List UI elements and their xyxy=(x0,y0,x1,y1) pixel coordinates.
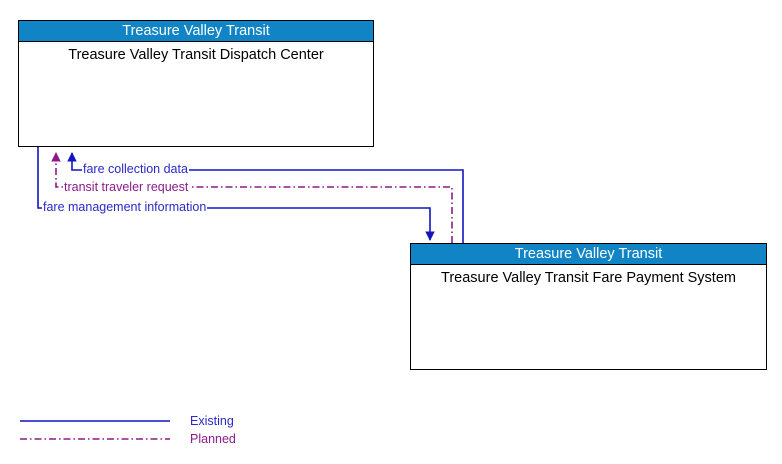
entity-fare-payment-system[interactable]: Treasure Valley Transit Treasure Valley … xyxy=(410,243,767,370)
entity-dispatch-center[interactable]: Treasure Valley Transit Treasure Valley … xyxy=(18,20,374,147)
entity-dispatch-center-name: Treasure Valley Transit Dispatch Center xyxy=(19,42,373,65)
legend-label-planned: Planned xyxy=(190,432,236,447)
legend-swatch-existing xyxy=(20,414,170,428)
entity-fare-payment-system-stakeholder: Treasure Valley Transit xyxy=(411,244,766,265)
legend-label-existing: Existing xyxy=(190,414,234,429)
flow-label-fare-management-information[interactable]: fare management information xyxy=(42,201,207,214)
entity-dispatch-center-stakeholder: Treasure Valley Transit xyxy=(19,21,373,42)
legend: Existing Planned xyxy=(0,408,782,458)
legend-swatch-planned xyxy=(20,432,170,446)
flow-label-transit-traveler-request[interactable]: transit traveler request xyxy=(63,181,189,194)
entity-fare-payment-system-name: Treasure Valley Transit Fare Payment Sys… xyxy=(411,265,766,288)
flow-label-fare-collection-data[interactable]: fare collection data xyxy=(82,163,189,176)
diagram-canvas: Treasure Valley Transit Treasure Valley … xyxy=(0,0,782,464)
